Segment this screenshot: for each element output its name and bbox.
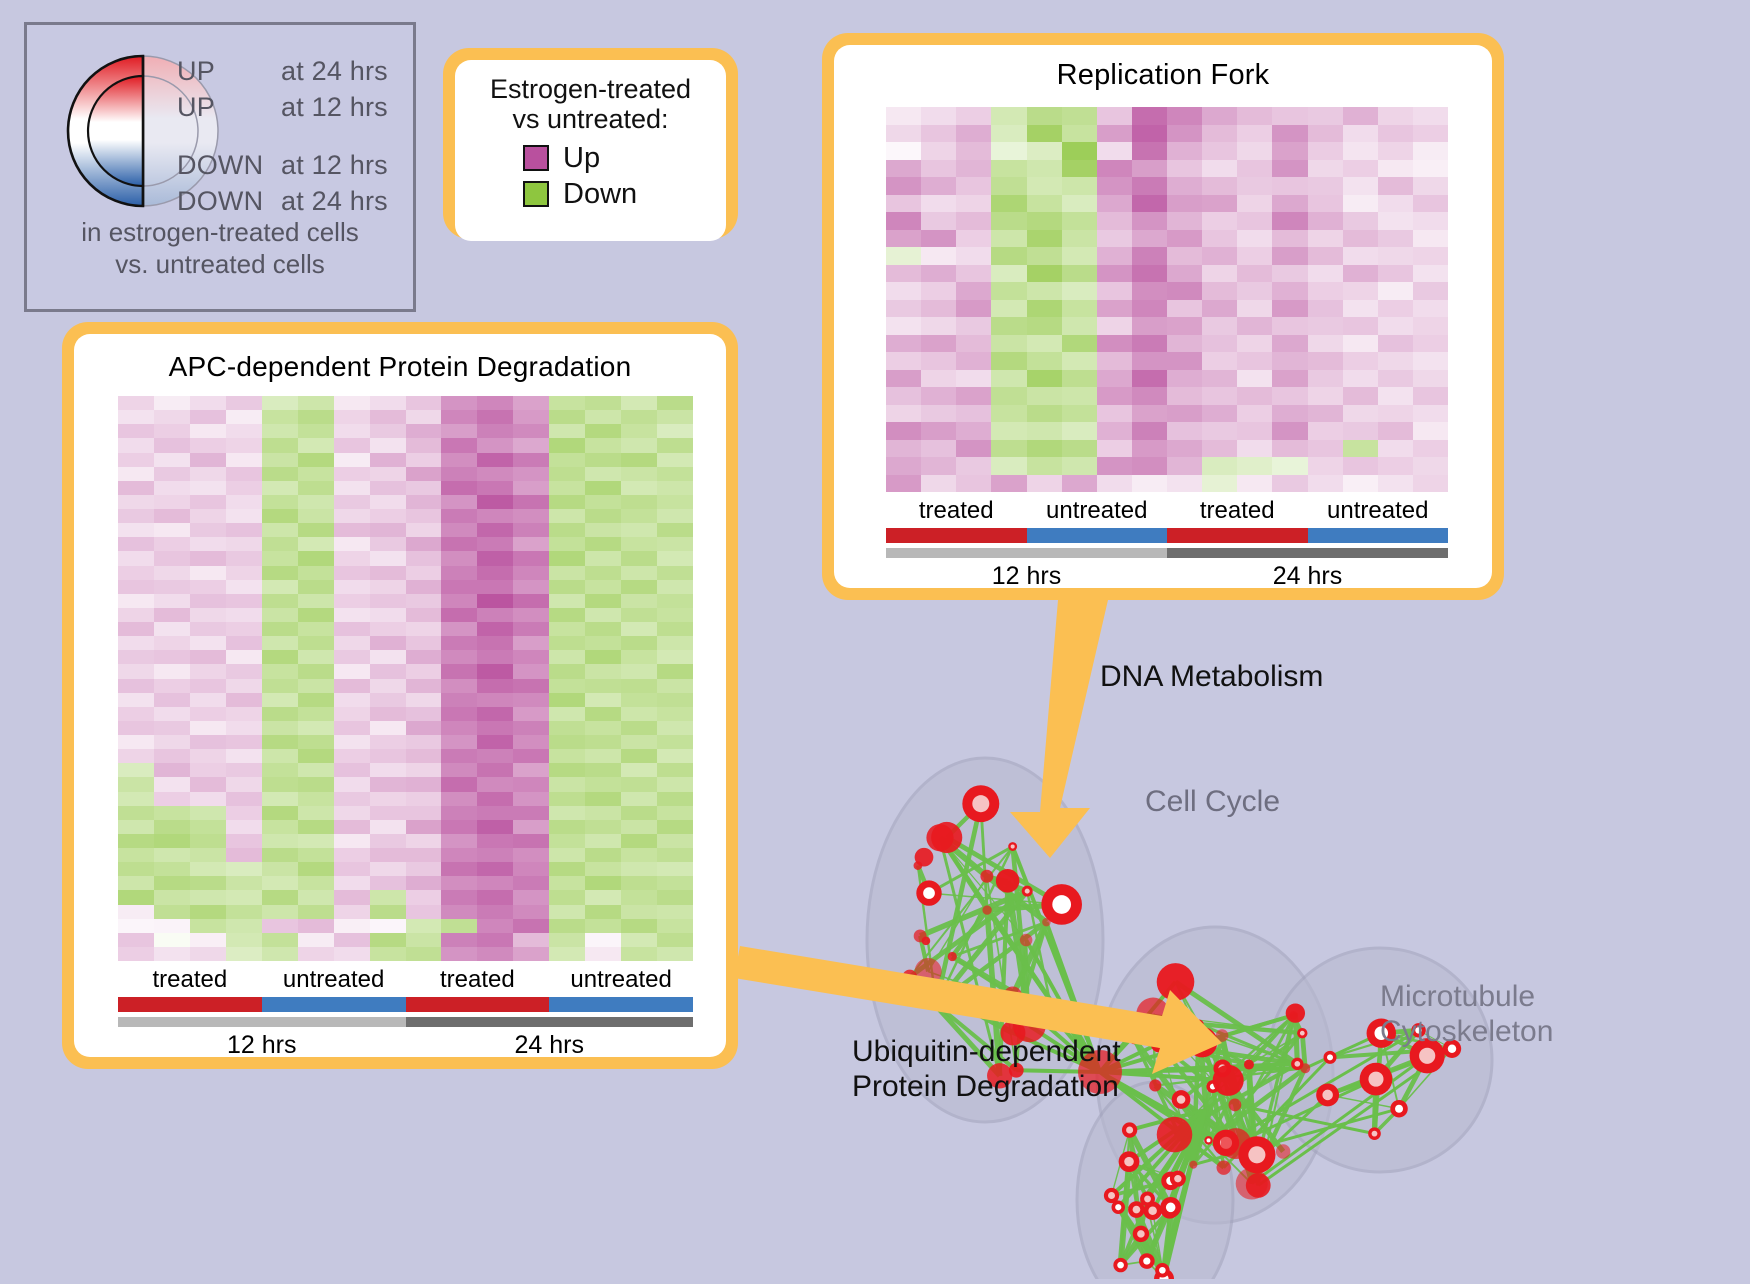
heatmap-cell bbox=[334, 777, 370, 791]
network-node-core bbox=[1300, 1031, 1305, 1036]
heatmap-cell bbox=[1308, 125, 1343, 143]
heatmap-cell bbox=[1272, 457, 1307, 475]
heatmap-cell bbox=[477, 777, 513, 791]
heatmap-cell bbox=[1132, 160, 1167, 178]
heatmap-cell bbox=[1343, 177, 1378, 195]
heatmap-cell bbox=[956, 265, 991, 283]
heatmap-cell bbox=[154, 820, 190, 834]
heatmap-cell bbox=[549, 509, 585, 523]
heatmap-cell bbox=[118, 820, 154, 834]
heatmap-cell bbox=[190, 792, 226, 806]
heatmap-cell bbox=[406, 834, 442, 848]
heatmap-cell bbox=[657, 537, 693, 551]
heatmap-cell bbox=[477, 721, 513, 735]
heatmap-cell bbox=[1343, 142, 1378, 160]
heatmap-cell bbox=[441, 523, 477, 537]
heatmap-cell bbox=[886, 230, 921, 248]
spacer bbox=[177, 125, 417, 147]
key-time: at 24 hrs bbox=[281, 56, 388, 87]
heatmap-cell bbox=[921, 125, 956, 143]
heatmap-cell bbox=[621, 777, 657, 791]
heatmap-cell bbox=[334, 608, 370, 622]
network-node-core bbox=[1327, 1054, 1333, 1060]
heatmap-cell bbox=[477, 438, 513, 452]
heatmap-cell bbox=[370, 876, 406, 890]
heatmap-cell bbox=[190, 919, 226, 933]
heatmap-cell bbox=[956, 125, 991, 143]
condition-bar-segment bbox=[886, 528, 1027, 543]
condition-labels: treated untreated treated untreated bbox=[886, 497, 1448, 525]
heatmap-cell bbox=[585, 933, 621, 947]
heatmap-cell bbox=[118, 523, 154, 537]
heatmap-cell bbox=[991, 422, 1026, 440]
network-node bbox=[1229, 1099, 1242, 1112]
heatmap-cell bbox=[1308, 230, 1343, 248]
heatmap-cell bbox=[1237, 212, 1272, 230]
heatmap-cell bbox=[262, 664, 298, 678]
network-node bbox=[1220, 1128, 1251, 1159]
heatmap-cell bbox=[118, 792, 154, 806]
key-time: at 24 hrs bbox=[281, 186, 388, 217]
heatmap-cell bbox=[441, 763, 477, 777]
heatmap-cell bbox=[118, 806, 154, 820]
heatmap-cell bbox=[1097, 160, 1132, 178]
heatmap-cell bbox=[621, 580, 657, 594]
heatmap-cell bbox=[1027, 457, 1062, 475]
heatmap-cell bbox=[991, 457, 1026, 475]
heatmap-cell bbox=[477, 453, 513, 467]
heatmap-cell bbox=[1343, 247, 1378, 265]
heatmap-cell bbox=[190, 509, 226, 523]
heatmap-cell bbox=[585, 636, 621, 650]
heatmap-cell bbox=[621, 410, 657, 424]
heatmap-cell bbox=[1027, 352, 1062, 370]
heatmap-cell bbox=[370, 749, 406, 763]
network-node-core bbox=[1025, 889, 1030, 894]
network-node-core bbox=[1108, 1192, 1115, 1199]
heatmap-cell bbox=[1343, 352, 1378, 370]
heatmap-cell bbox=[1132, 282, 1167, 300]
heatmap-cell bbox=[886, 247, 921, 265]
heatmap-cell bbox=[956, 335, 991, 353]
heatmap-cell bbox=[1378, 300, 1413, 318]
heatmap-cell bbox=[118, 467, 154, 481]
network-node-core bbox=[1177, 1095, 1186, 1104]
condition-label: treated bbox=[886, 497, 1027, 525]
heatmap-cell bbox=[262, 594, 298, 608]
heatmap-cell bbox=[1097, 265, 1132, 283]
heatmap-cell bbox=[1132, 195, 1167, 213]
heatmap-cell bbox=[441, 608, 477, 622]
heatmap-cell bbox=[334, 453, 370, 467]
heatmap-cell bbox=[1237, 230, 1272, 248]
heatmap-cell bbox=[1027, 335, 1062, 353]
heatmap-cell bbox=[370, 933, 406, 947]
heatmap-cell bbox=[1097, 125, 1132, 143]
network-node-core bbox=[1155, 1040, 1163, 1048]
heatmap-cell bbox=[118, 834, 154, 848]
heatmap-cell bbox=[334, 580, 370, 594]
heatmap-cell bbox=[513, 608, 549, 622]
heatmap-cell bbox=[190, 820, 226, 834]
heatmap-cell bbox=[549, 467, 585, 481]
heatmap-cell bbox=[1202, 335, 1237, 353]
heatmap-cell bbox=[621, 594, 657, 608]
heatmap-cell bbox=[1237, 160, 1272, 178]
heatmap-cell bbox=[956, 107, 991, 125]
heatmap-cell bbox=[1272, 212, 1307, 230]
heatmap-cell bbox=[1378, 125, 1413, 143]
heatmap-cell bbox=[1132, 352, 1167, 370]
heatmap-cell bbox=[1132, 125, 1167, 143]
heatmap-cell bbox=[406, 933, 442, 947]
heatmap-cell bbox=[585, 876, 621, 890]
heatmap-cell bbox=[1308, 440, 1343, 458]
heatmap-cell bbox=[190, 580, 226, 594]
heatmap-cell bbox=[1132, 387, 1167, 405]
heatmap-cell bbox=[886, 370, 921, 388]
heatmap-cell bbox=[549, 947, 585, 961]
network-node bbox=[914, 930, 927, 943]
heatmap-cell bbox=[1378, 160, 1413, 178]
heatmap-cell bbox=[621, 453, 657, 467]
heatmap-cell bbox=[956, 440, 991, 458]
heatmap-cell bbox=[1132, 422, 1167, 440]
heatmap-cell bbox=[1378, 230, 1413, 248]
network-node bbox=[1003, 986, 1022, 1005]
heatmap-cell bbox=[298, 792, 334, 806]
condition-label: treated bbox=[118, 966, 262, 994]
heatmap-cell bbox=[154, 919, 190, 933]
heatmap-cell bbox=[1027, 212, 1062, 230]
heatmap-cell bbox=[118, 537, 154, 551]
heatmap-cell bbox=[477, 862, 513, 876]
heatmap-cell bbox=[1378, 335, 1413, 353]
heatmap-cell bbox=[190, 876, 226, 890]
heatmap-cell bbox=[226, 735, 262, 749]
heatmap-cell bbox=[621, 820, 657, 834]
heatmap-cell bbox=[1272, 387, 1307, 405]
heatmap-cell bbox=[298, 580, 334, 594]
heatmap-cell bbox=[956, 142, 991, 160]
heatmap-cell bbox=[118, 905, 154, 919]
heatmap-cell bbox=[298, 693, 334, 707]
legend-title-line-1: Estrogen-treated bbox=[455, 74, 726, 104]
network-node-core bbox=[1144, 1196, 1151, 1203]
caption-line-2: vs. untreated cells bbox=[27, 249, 413, 281]
timepoint-label: 12 hrs bbox=[118, 1031, 406, 1057]
network-node-core bbox=[972, 795, 989, 812]
heatmap-cell bbox=[441, 580, 477, 594]
heatmap-cell bbox=[406, 792, 442, 806]
heatmap-cell bbox=[406, 777, 442, 791]
network-node-core bbox=[1117, 1262, 1124, 1269]
heatmap-cell bbox=[921, 212, 956, 230]
heatmap-cell bbox=[1062, 107, 1097, 125]
heatmap-cell bbox=[1237, 370, 1272, 388]
heatmap-cell bbox=[262, 919, 298, 933]
heatmap-cell bbox=[1237, 177, 1272, 195]
heatmap-cell bbox=[1413, 212, 1448, 230]
heatmap-cell bbox=[886, 317, 921, 335]
key-direction: DOWN bbox=[177, 186, 281, 217]
heatmap-cell bbox=[1308, 335, 1343, 353]
heatmap-cell bbox=[1202, 107, 1237, 125]
heatmap-cell bbox=[441, 622, 477, 636]
heatmap-cell bbox=[921, 247, 956, 265]
network-node bbox=[1244, 1060, 1254, 1070]
heatmap-cell bbox=[154, 622, 190, 636]
heatmap-cell bbox=[262, 947, 298, 961]
heatmap-cell bbox=[1027, 265, 1062, 283]
condition-label: untreated bbox=[1308, 497, 1449, 525]
heatmap-cell bbox=[657, 721, 693, 735]
heatmap-cell bbox=[154, 594, 190, 608]
heatmap-cell bbox=[585, 495, 621, 509]
heatmap-cell bbox=[921, 352, 956, 370]
heatmap-cell bbox=[226, 608, 262, 622]
heatmap-cell bbox=[298, 876, 334, 890]
heatmap-cell bbox=[621, 679, 657, 693]
heatmap-cell bbox=[262, 495, 298, 509]
apc-degradation-annotation: treated untreated treated untreated 12 h bbox=[118, 966, 693, 1057]
network-node-core bbox=[1195, 1035, 1209, 1049]
heatmap-cell bbox=[154, 777, 190, 791]
heatmap-cell bbox=[441, 721, 477, 735]
condition-bar-segment bbox=[549, 997, 693, 1012]
heatmap-cell bbox=[1272, 370, 1307, 388]
timepoint-labels: 12 hrs 24 hrs bbox=[886, 562, 1448, 588]
heatmap-cell bbox=[1097, 212, 1132, 230]
heatmap-cell bbox=[513, 650, 549, 664]
heatmap-cell bbox=[370, 792, 406, 806]
network-node bbox=[1129, 1034, 1139, 1044]
heatmap-cell bbox=[1343, 405, 1378, 423]
heatmap-cell bbox=[1413, 440, 1448, 458]
heatmap-cell bbox=[1237, 247, 1272, 265]
heatmap-cell bbox=[226, 551, 262, 565]
heatmap-cell bbox=[585, 453, 621, 467]
network-node-core bbox=[1174, 1175, 1181, 1182]
heatmap-cell bbox=[1202, 125, 1237, 143]
heatmap-cell bbox=[921, 160, 956, 178]
heatmap-cell bbox=[298, 834, 334, 848]
heatmap-cell bbox=[334, 834, 370, 848]
heatmap-cell bbox=[657, 693, 693, 707]
heatmap-cell bbox=[1097, 142, 1132, 160]
heatmap-cell bbox=[1202, 230, 1237, 248]
heatmap-cell bbox=[1202, 475, 1237, 493]
heatmap-cell bbox=[1343, 300, 1378, 318]
heatmap-cell bbox=[190, 396, 226, 410]
heatmap-cell bbox=[621, 890, 657, 904]
heatmap-cell bbox=[118, 622, 154, 636]
heatmap-cell bbox=[513, 580, 549, 594]
heatmap-cell bbox=[657, 919, 693, 933]
heatmap-cell bbox=[1272, 247, 1307, 265]
heatmap-cell bbox=[585, 848, 621, 862]
heatmap-cell bbox=[956, 212, 991, 230]
color-key-box: UP at 24 hrs UP at 12 hrs DOWN at 12 hrs… bbox=[24, 22, 416, 312]
heatmap-cell bbox=[370, 622, 406, 636]
heatmap-cell bbox=[1097, 300, 1132, 318]
heatmap-cell bbox=[1272, 440, 1307, 458]
heatmap-cell bbox=[334, 396, 370, 410]
heatmap-cell bbox=[406, 721, 442, 735]
heatmap-cell bbox=[118, 438, 154, 452]
heatmap-cell bbox=[334, 650, 370, 664]
heatmap-cell bbox=[513, 792, 549, 806]
heatmap-cell bbox=[585, 735, 621, 749]
heatmap-cell bbox=[334, 523, 370, 537]
heatmap-cell bbox=[370, 410, 406, 424]
heatmap-cell bbox=[886, 107, 921, 125]
heatmap-cell bbox=[154, 424, 190, 438]
heatmap-cell bbox=[154, 806, 190, 820]
heatmap-cell bbox=[956, 422, 991, 440]
heatmap-cell bbox=[262, 580, 298, 594]
heatmap-cell bbox=[441, 806, 477, 820]
heatmap-cell bbox=[549, 580, 585, 594]
heatmap-cell bbox=[1097, 475, 1132, 493]
heatmap-cell bbox=[1202, 265, 1237, 283]
heatmap-cell bbox=[549, 763, 585, 777]
heatmap-cell bbox=[370, 537, 406, 551]
heatmap-cell bbox=[154, 509, 190, 523]
heatmap-cell bbox=[549, 890, 585, 904]
heatmap-cell bbox=[1167, 177, 1202, 195]
heatmap-cell bbox=[226, 905, 262, 919]
heatmap-cell bbox=[298, 933, 334, 947]
heatmap-cell bbox=[118, 947, 154, 961]
heatmap-cell bbox=[298, 947, 334, 961]
heatmap-cell bbox=[621, 551, 657, 565]
heatmap-cell bbox=[1132, 107, 1167, 125]
heatmap-cell bbox=[549, 650, 585, 664]
heatmap-cell bbox=[549, 481, 585, 495]
heatmap-cell bbox=[621, 509, 657, 523]
heatmap-cell bbox=[585, 749, 621, 763]
heatmap-cell bbox=[262, 749, 298, 763]
heatmap-cell bbox=[118, 664, 154, 678]
heatmap-cell bbox=[406, 763, 442, 777]
heatmap-cell bbox=[513, 566, 549, 580]
heatmap-cell bbox=[1027, 160, 1062, 178]
heatmap-cell bbox=[1413, 387, 1448, 405]
heatmap-cell bbox=[406, 424, 442, 438]
heatmap-cell bbox=[1378, 457, 1413, 475]
heatmap-cell bbox=[118, 509, 154, 523]
network-node-core bbox=[1050, 1013, 1056, 1019]
heatmap-cell bbox=[226, 396, 262, 410]
heatmap-cell bbox=[298, 551, 334, 565]
condition-bar-segment bbox=[262, 997, 406, 1012]
heatmap-cell bbox=[585, 890, 621, 904]
heatmap-cell bbox=[1097, 107, 1132, 125]
heatmap-cell bbox=[1413, 160, 1448, 178]
heatmap-cell bbox=[190, 735, 226, 749]
heatmap-cell bbox=[1378, 282, 1413, 300]
heatmap-cell bbox=[370, 636, 406, 650]
heatmap-cell bbox=[1378, 475, 1413, 493]
heatmap-cell bbox=[621, 806, 657, 820]
heatmap-cell bbox=[370, 735, 406, 749]
heatmap-cell bbox=[991, 317, 1026, 335]
heatmap-cell bbox=[477, 693, 513, 707]
heatmap-cell bbox=[226, 650, 262, 664]
network-node-core bbox=[923, 887, 935, 899]
heatmap-cell bbox=[477, 481, 513, 495]
network-node-core bbox=[1395, 1105, 1403, 1113]
heatmap-cell bbox=[1167, 440, 1202, 458]
heatmap-cell bbox=[621, 636, 657, 650]
pathway-network-diagram: DNA Metabolism Cell Cycle Microtubule Cy… bbox=[790, 610, 1750, 1279]
heatmap-cell bbox=[370, 566, 406, 580]
heatmap-cell bbox=[921, 440, 956, 458]
heatmap-cell bbox=[441, 481, 477, 495]
heatmap-cell bbox=[1378, 405, 1413, 423]
heatmap-cell bbox=[621, 933, 657, 947]
network-node bbox=[1149, 1079, 1161, 1091]
heatmap-cell bbox=[1027, 282, 1062, 300]
heatmap-cell bbox=[226, 467, 262, 481]
network-node bbox=[1157, 1117, 1193, 1153]
heatmap-cell bbox=[1343, 422, 1378, 440]
legend-title: Estrogen-treated vs untreated: bbox=[455, 74, 726, 134]
heatmap-cell bbox=[477, 890, 513, 904]
heatmap-cell bbox=[118, 396, 154, 410]
heatmap-cell bbox=[441, 650, 477, 664]
heatmap-cell bbox=[154, 933, 190, 947]
heatmap-cell bbox=[956, 317, 991, 335]
heatmap-cell bbox=[1167, 212, 1202, 230]
network-node bbox=[1216, 1029, 1229, 1042]
heatmap-cell bbox=[585, 834, 621, 848]
heatmap-cell bbox=[441, 467, 477, 481]
heatmap-cell bbox=[621, 763, 657, 777]
heatmap-cell bbox=[226, 876, 262, 890]
heatmap-cell bbox=[991, 300, 1026, 318]
heatmap-cell bbox=[441, 594, 477, 608]
network-node bbox=[914, 861, 923, 870]
heatmap-cell bbox=[190, 679, 226, 693]
heatmap-cell bbox=[334, 622, 370, 636]
key-direction: DOWN bbox=[177, 150, 281, 181]
heatmap-cell bbox=[262, 862, 298, 876]
heatmap-cell bbox=[226, 834, 262, 848]
heatmap-cell bbox=[1027, 317, 1062, 335]
heatmap-cell bbox=[549, 876, 585, 890]
heatmap-cell bbox=[991, 177, 1026, 195]
heatmap-cell bbox=[477, 834, 513, 848]
heatmap-cell bbox=[513, 707, 549, 721]
heatmap-cell bbox=[513, 622, 549, 636]
network-node bbox=[1136, 998, 1170, 1032]
heatmap-cell bbox=[441, 453, 477, 467]
heatmap-cell bbox=[1343, 440, 1378, 458]
heatmap-cell bbox=[1027, 195, 1062, 213]
heatmap-cell bbox=[621, 566, 657, 580]
heatmap-cell bbox=[441, 834, 477, 848]
heatmap-cell bbox=[621, 537, 657, 551]
heatmap-cell bbox=[1378, 422, 1413, 440]
heatmap-cell bbox=[513, 467, 549, 481]
heatmap-cell bbox=[441, 792, 477, 806]
heatmap-cell bbox=[513, 509, 549, 523]
heatmap-cell bbox=[549, 933, 585, 947]
heatmap-cell bbox=[657, 438, 693, 452]
heatmap-cell bbox=[1343, 370, 1378, 388]
